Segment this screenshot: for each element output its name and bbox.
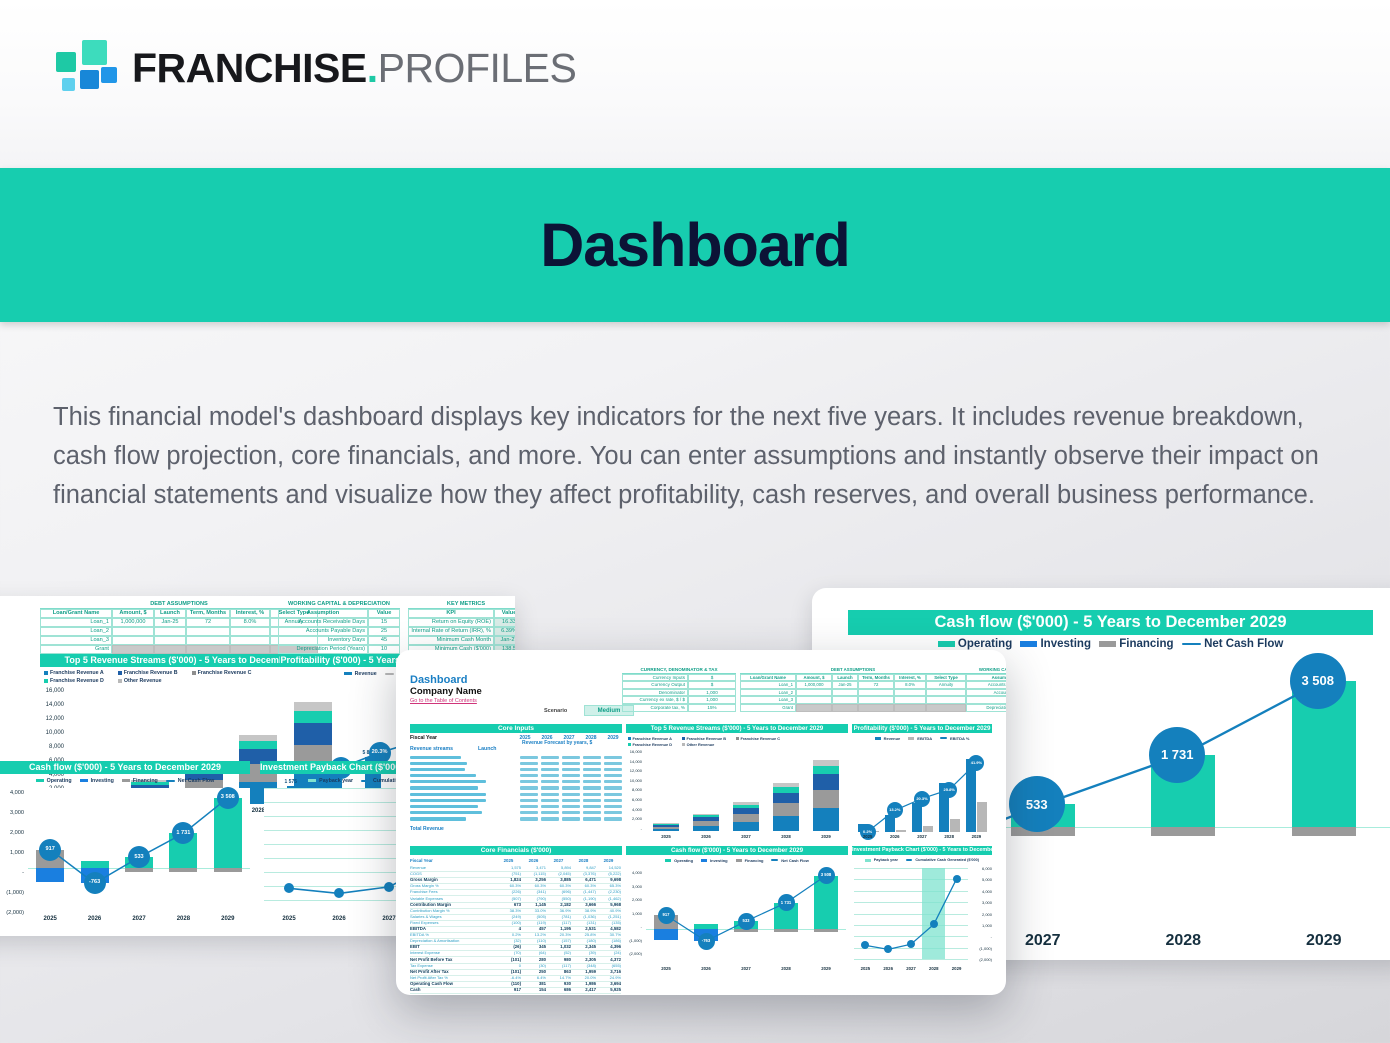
- left-payback-legend-label: Payback year: [319, 778, 353, 784]
- center-debt-table-cell: Loan_1: [740, 681, 796, 689]
- squares-mosaic-icon: [56, 40, 114, 96]
- center-cashflow-legend-swatch: [736, 859, 742, 862]
- left-km-table-cell: 16.33: [494, 618, 515, 627]
- center-debt-table-cell: [894, 689, 926, 697]
- center-panel-title: Dashboard: [410, 674, 467, 686]
- left-wc-table-header-row: AssumptionValue: [278, 609, 400, 618]
- left-debt-table-cell: [154, 645, 186, 654]
- center-revenue-ytick: 14,000: [622, 759, 642, 764]
- left-revenue-legend-label: Other Revenue: [124, 678, 162, 684]
- left-debt-table-row[interactable]: Loan_3: [40, 636, 318, 645]
- center-cashflow-bubble: 533: [738, 913, 755, 930]
- center-wc-table-title: WORKING CAPITAL & DEPRECIATION: [966, 666, 1006, 674]
- center-payback-ytick: -: [970, 934, 992, 939]
- center-debt-table-cell: Jan-25: [832, 681, 858, 689]
- left-revenue-legend-swatch: [44, 679, 48, 683]
- center-revenue-bar-segment: [693, 817, 719, 821]
- center-revenue-bar-segment: [813, 760, 839, 766]
- page-title: Dashboard: [540, 210, 850, 280]
- hero-chart-legend-label: Financing: [1119, 638, 1173, 650]
- center-revenue-bar-segment: [693, 814, 719, 815]
- center-wc-table-cell: Inventory Days: [966, 696, 1006, 704]
- center-debt-table-cell: Loan_2: [740, 689, 796, 697]
- left-wc-table-cell: Accounts Receivable Days: [278, 618, 368, 627]
- center-debt-table-cell: [832, 696, 858, 704]
- left-cashflow-xlab: 2029: [206, 916, 250, 922]
- center-cf-header-cell: Fiscal Year: [410, 857, 496, 864]
- left-debt-table-cell: 1,000,000: [112, 618, 154, 627]
- left-debt-table-cell: [230, 627, 270, 636]
- left-revenue-legend-swatch: [44, 671, 48, 675]
- center-currency-table-cell: Currency ex rate, $ / $: [622, 696, 688, 704]
- center-cashflow-ytick: (1,000): [622, 938, 642, 943]
- center-profit-legend-item: EBITDA: [908, 736, 932, 741]
- left-debt-table-row[interactable]: Loan_2: [40, 627, 318, 636]
- center-wc-table-row[interactable]: Inventory Days45: [966, 696, 1006, 704]
- center-currency-table-row[interactable]: Corporate tax, %15%: [622, 704, 736, 712]
- center-revenue-bar-segment: [653, 827, 679, 829]
- center-panel-toc-link[interactable]: Go to the Table of Contents: [410, 698, 477, 704]
- center-revenue-xlab: 2025: [646, 834, 686, 839]
- left-profit-legend-swatch: [385, 673, 394, 675]
- center-cashflow-ytick: (2,000): [622, 951, 642, 956]
- left-cashflow-legend-swatch: [80, 779, 88, 782]
- left-cashflow-ytick: (2,000): [0, 910, 24, 916]
- left-wc-table-cell: Depreciation Period (Years): [278, 645, 368, 654]
- center-wc-table-cell: Depreciation Period (Years): [966, 704, 1006, 712]
- center-debt-table-header-cell: Term, Months: [858, 674, 894, 682]
- left-debt-table-header-cell: Amount, $: [112, 609, 154, 618]
- left-wc-table-header-cell: Assumption: [278, 609, 368, 618]
- left-debt-table-cell: Grant: [40, 645, 112, 654]
- left-wc-table-cell: 45: [368, 636, 400, 645]
- center-currency-table-cell: Currency Output: [622, 681, 688, 689]
- center-revenue-bar-segment: [773, 803, 799, 815]
- center-cashflow-legend-label: Investing: [710, 858, 728, 863]
- center-revenue-ytick: 6,000: [622, 797, 642, 802]
- center-cf-cell: 686: [546, 987, 571, 993]
- left-debt-table-row[interactable]: Grant: [40, 645, 318, 654]
- center-debt-table-row[interactable]: Loan_3: [740, 696, 966, 704]
- center-profit-legend-label: EBITDA: [917, 736, 932, 741]
- left-km-table-header-cell: KPI: [408, 609, 494, 618]
- hero-x-axis-label: 2029: [1254, 932, 1390, 950]
- left-wc-table-cell: 15: [368, 618, 400, 627]
- center-debt-table-cell: [858, 696, 894, 704]
- center-debt-table-row[interactable]: Loan_11,000,000Jan-25728.0%Annuity: [740, 681, 966, 689]
- center-cashflow-xlab: 2029: [806, 966, 846, 971]
- left-cashflow-bubble: -763: [84, 872, 106, 894]
- left-km-table-row[interactable]: Minimum Cash MonthJan-27: [408, 636, 515, 645]
- left-wc-table-row[interactable]: Inventory Days45: [278, 636, 400, 645]
- left-km-table-row[interactable]: Return on Equity (ROE)16.33: [408, 618, 515, 627]
- center-cf-cell: 2,417: [571, 987, 596, 993]
- left-km-table-cell: Return on Equity (ROE): [408, 618, 494, 627]
- center-debt-table-cell: [832, 689, 858, 697]
- center-profit-legend-swatch: [940, 737, 947, 739]
- center-payback-legend: Payback yearCumulative Cash Generated ($…: [852, 857, 992, 863]
- center-currency-table-cell: Currency Inputs: [622, 674, 688, 682]
- center-cashflow-legend-swatch: [665, 859, 671, 862]
- center-revenue-legend-item: Franchise Revenue C: [736, 736, 780, 741]
- center-cashflow-legend-label: Operating: [674, 858, 693, 863]
- left-revenue-legend-item: Franchise Revenue B: [118, 670, 178, 676]
- center-debt-table-cell: [796, 689, 832, 697]
- left-cashflow-legend-label: Financing: [133, 778, 158, 784]
- left-wc-table-cell: 25: [368, 627, 400, 636]
- center-revenue-bar-segment: [733, 808, 759, 814]
- center-profit-legend-item: Revenue: [875, 736, 901, 741]
- center-debt-table-cell: Grant: [740, 704, 796, 712]
- left-km-table-title: KEY METRICS: [408, 600, 515, 609]
- center-revenue-legend-item: Franchise Revenue D: [628, 742, 672, 747]
- center-profit-xlab: 2029: [963, 834, 990, 839]
- center-revenue-bar-segment: [733, 822, 759, 831]
- center-profit-legend-item: EBITDA %: [940, 736, 969, 741]
- center-revenue-bar-segment: [813, 790, 839, 808]
- left-cashflow-legend-label: Net Cash Flow: [178, 778, 215, 784]
- center-payback-bar: Investment Payback Chart ($'000) - 5 Yea…: [852, 846, 992, 855]
- center-revenue-ytick: 16,000: [622, 749, 642, 754]
- center-revenue-bar-segment: [733, 802, 759, 804]
- left-debt-table-cell: [186, 645, 230, 654]
- left-cashflow-bubble: 3 508: [217, 787, 239, 809]
- left-revenue-ytick: 16,000: [36, 688, 64, 694]
- center-payback-ytick: 2,000: [970, 912, 992, 917]
- hero-chart-legend-label: Investing: [1040, 638, 1090, 650]
- center-launch-label: Launch: [478, 746, 496, 752]
- center-debt-table-cell: 1,000,000: [796, 681, 832, 689]
- center-cashflow-legend-item: Net Cash Flow: [771, 858, 808, 863]
- center-debt-table-title: DEBT ASSUMPTIONS: [740, 666, 966, 674]
- center-total-revenue-label: Total Revenue: [410, 826, 444, 832]
- left-cashflow-legend-item: Financing: [122, 778, 158, 784]
- left-debt-table-cell: [154, 627, 186, 636]
- center-debt-table-cell: [858, 689, 894, 697]
- left-cashflow-ytick: 1,000: [0, 850, 24, 856]
- left-revenue-bar-segment: [239, 735, 277, 741]
- center-payback-point: [953, 875, 961, 883]
- center-payback-legend-swatch: [865, 859, 871, 862]
- center-revenue-bar-segment: [773, 787, 799, 793]
- left-payback-legend-swatch: [308, 779, 316, 782]
- center-debt-table-cell: Annuity: [926, 681, 966, 689]
- left-cashflow-ytick: 2,000: [0, 830, 24, 836]
- hero-chart-legend-item: Investing: [1020, 638, 1091, 650]
- center-cf-cell: Cash: [410, 987, 496, 993]
- left-cashflow-legend-item: Net Cash Flow: [166, 778, 215, 784]
- left-debt-table-cell: Loan_3: [40, 636, 112, 645]
- center-cf-header-cell: 2029: [596, 857, 621, 864]
- center-profit-xlab: 2026: [881, 834, 908, 839]
- left-wc-table-cell: Accounts Payable Days: [278, 627, 368, 636]
- center-cashflow-bubble: 917: [658, 907, 675, 924]
- center-revenue-bar-segment: [693, 826, 719, 831]
- center-revenue-legend-swatch: [736, 737, 739, 740]
- center-cashflow-xlab: 2025: [646, 966, 686, 971]
- center-revenue-ytick: 2,000: [622, 816, 642, 821]
- center-payback-ytick: 5,000: [970, 877, 992, 882]
- center-profit-xlab: 2028: [936, 834, 963, 839]
- center-wc-table-header-cell: Assumption: [966, 674, 1006, 682]
- brand-name-dot: .: [367, 45, 378, 91]
- center-revenue-xlab: 2029: [806, 834, 846, 839]
- center-revenue-legend-label: Franchise Revenue C: [741, 736, 781, 741]
- left-profit-legend-item: Revenue: [344, 671, 377, 677]
- center-revenue-bar-segment: [733, 805, 759, 808]
- center-debt-table-cell: [926, 696, 966, 704]
- center-payback-line: [854, 868, 968, 963]
- center-profit-bubble: 20.3%: [914, 791, 930, 807]
- hero-chart-legend-label: Net Cash Flow: [1204, 638, 1283, 650]
- left-cashflow-plot: 917-7635331 7313 508: [28, 788, 250, 913]
- center-revenue-bar-segment: [693, 821, 719, 825]
- center-currency-table-row[interactable]: Currency Inputs$: [622, 674, 736, 682]
- left-revenue-ytick: 12,000: [36, 716, 64, 722]
- center-cashflow-ytick: 1,000: [622, 911, 642, 916]
- left-revenue-legend-swatch: [192, 671, 196, 675]
- left-cashflow-title: Cash flow ($'000) - 5 Years to December …: [0, 761, 250, 774]
- left-wc-table-row[interactable]: Accounts Payable Days25: [278, 627, 400, 636]
- left-revenue-ytick: 14,000: [36, 702, 64, 708]
- center-cashflow-ytick: 4,000: [622, 870, 642, 875]
- center-payback-ytick: 3,000: [970, 900, 992, 905]
- center-payback-legend-item: Payback year: [865, 858, 898, 862]
- center-revenue-legend-swatch: [628, 737, 631, 740]
- center-revenue-legend-swatch: [628, 743, 631, 746]
- center-panel-scenario-label: Scenario: [544, 708, 567, 714]
- center-wc-table-header-row: AssumptionValue: [966, 674, 1006, 682]
- center-profit-xlab: 2025: [854, 834, 881, 839]
- center-cf-header-cell: 2026: [521, 857, 546, 864]
- center-cashflow-legend-label: Net Cash Flow: [781, 858, 809, 863]
- center-revenue-xlab: 2028: [766, 834, 806, 839]
- center-debt-table-cell: Loan_3: [740, 696, 796, 704]
- left-km-table-cell: Jan-27: [494, 636, 515, 645]
- center-cashflow-xlab: 2027: [726, 966, 766, 971]
- left-revenue-legend-item: Other Revenue: [118, 678, 162, 684]
- center-debt-table-header-cell: Interest, %: [894, 674, 926, 682]
- left-wc-table-header-cell: Value: [368, 609, 400, 618]
- center-cf-row[interactable]: Cash9171546862,4175,925: [410, 987, 621, 994]
- center-currency-table: CURRENCY, DENOMINATOR & TAXCurrency Inpu…: [622, 666, 736, 712]
- left-revenue-legend-swatch: [118, 671, 122, 675]
- page-description: This financial model's dashboard display…: [53, 398, 1343, 515]
- center-payback-ytick: 6,000: [970, 866, 992, 871]
- center-debt-table-cell: [894, 696, 926, 704]
- center-revenue-bar-segment: [653, 825, 679, 827]
- center-cashflow-ytick: 3,000: [622, 884, 642, 889]
- center-revenue-bar-segment: [813, 774, 839, 790]
- center-cashflow-legend-item: Financing: [736, 858, 764, 863]
- center-core-inputs-year: 2029: [602, 735, 624, 741]
- left-cashflow-legend-swatch: [36, 779, 44, 782]
- left-cashflow-legend-item: Operating: [36, 778, 72, 784]
- center-core-financials-bar: Core Financials ($'000): [410, 846, 622, 855]
- left-revenue-bar-segment: [239, 741, 277, 749]
- left-wc-table: WORKING CAPITAL & DEPRECIATIONAssumption…: [278, 600, 400, 654]
- hero-data-label-bubble: 1 731: [1149, 727, 1205, 783]
- left-wc-table-row[interactable]: Depreciation Period (Years)10: [278, 645, 400, 654]
- center-cf-cell: 917: [496, 987, 521, 993]
- center-profit-bubble: 13.2%: [887, 802, 903, 818]
- center-profit-xlab: 2027: [908, 834, 935, 839]
- left-cashflow-bubble: 917: [39, 839, 61, 861]
- hero-chart-legend-item: Financing: [1099, 638, 1174, 650]
- center-cashflow-xlab: 2026: [686, 966, 726, 971]
- center-currency-table-cell: $: [688, 674, 736, 682]
- center-panel-company: Company Name: [410, 686, 482, 697]
- center-payback-legend-swatch: [906, 859, 912, 861]
- center-revenue-bar: Top 5 Revenue Streams ($'000) - 5 Years …: [626, 724, 848, 733]
- center-revenue-bar-segment: [653, 824, 679, 825]
- left-revenue-ytick: 8,000: [36, 744, 64, 750]
- center-revenue-xlab: 2027: [726, 834, 766, 839]
- center-revenue-bar-segment: [813, 808, 839, 831]
- center-debt-table-row[interactable]: Loan_2: [740, 689, 966, 697]
- center-revenue-ytick: 12,000: [622, 768, 642, 773]
- center-debt-table-cell: [796, 704, 832, 712]
- left-revenue-legend-label: Franchise Revenue A: [50, 670, 104, 676]
- left-profit-legend-swatch: [344, 672, 352, 675]
- left-debt-table-row[interactable]: Loan_11,000,000Jan-25728.0%Annuity: [40, 618, 318, 627]
- center-profit-bubble: 25.8%: [941, 782, 957, 798]
- center-debt-table: DEBT ASSUMPTIONSLoan/Grant NameAmount, $…: [740, 666, 966, 712]
- left-km-table-row[interactable]: Internal Rate of Return (IRR), %6.39%: [408, 627, 515, 636]
- center-core-inputs-bar: Core Inputs: [410, 724, 622, 733]
- left-cashflow-ytick: -: [0, 870, 24, 876]
- hero-chart-legend-swatch: [1099, 641, 1116, 647]
- center-revenue-legend-label: Franchise Revenue D: [633, 742, 673, 747]
- center-revenue-bar-segment: [773, 816, 799, 831]
- brand-name-bold: FRANCHISE: [132, 45, 367, 91]
- left-debt-table-cell: 72: [186, 618, 230, 627]
- left-debt-table-cell: [112, 645, 154, 654]
- center-cashflow-plot: 917-7635331 7313 508: [646, 868, 846, 963]
- left-debt-table-header-cell: Loan/Grant Name: [40, 609, 112, 618]
- center-payback-legend-item: Cumulative Cash Generated ($'000): [906, 858, 979, 862]
- center-fiscal-year-label: Fiscal Year: [410, 735, 437, 741]
- hero-chart-legend-swatch: [938, 641, 955, 647]
- center-currency-table-cell: 15%: [688, 704, 736, 712]
- center-cf-header-cell: 2027: [546, 857, 571, 864]
- center-core-inputs-rows: [410, 754, 622, 822]
- center-profit-bar: Profitability ($'000) - 5 Years to Decem…: [852, 724, 992, 733]
- center-revenue-ytick: 4,000: [622, 807, 642, 812]
- center-payback-ytick: (2,000): [970, 957, 992, 962]
- center-debt-table-cell: [894, 704, 926, 712]
- center-wc-table: WORKING CAPITAL & DEPRECIATIONAssumption…: [966, 666, 1006, 712]
- center-currency-table-row[interactable]: Currency ex rate, $ / $1,000: [622, 696, 736, 704]
- hero-chart-legend-label: Operating: [958, 638, 1012, 650]
- left-cashflow-ytick: 3,000: [0, 810, 24, 816]
- center-cf-header-row: Fiscal Year20252026202720282029: [410, 857, 621, 864]
- center-cashflow-xlab: 2028: [766, 966, 806, 971]
- left-debt-table-cell: Loan_2: [40, 627, 112, 636]
- left-wc-table-cell: 10: [368, 645, 400, 654]
- left-debt-table-cell: Loan_1: [40, 618, 112, 627]
- left-wc-table-cell: Inventory Days: [278, 636, 368, 645]
- left-km-table-header-cell: Value: [494, 609, 515, 618]
- center-debt-table-row[interactable]: Grant: [740, 704, 966, 712]
- center-cashflow-bar: Cash flow ($'000) - 5 Years to December …: [626, 846, 848, 855]
- center-payback-xlab: 2027: [900, 966, 923, 971]
- left-debt-table-title: DEBT ASSUMPTIONS: [40, 600, 318, 609]
- center-revenue-legend-item: Franchise Revenue B: [682, 736, 726, 741]
- left-revenue-ytick: 10,000: [36, 730, 64, 736]
- center-cf-header-cell: 2025: [496, 857, 521, 864]
- center-currency-table-cell: 1,000: [688, 696, 736, 704]
- center-revenue-legend-swatch: [682, 737, 685, 740]
- left-km-table-cell: Minimum Cash Month: [408, 636, 494, 645]
- center-debt-table-cell: 8.0%: [894, 681, 926, 689]
- hero-chart-legend-item: Operating: [938, 638, 1013, 650]
- hero-chart-legend-swatch: [1182, 643, 1202, 645]
- center-revenue-legend-label: Franchise Revenue B: [686, 736, 726, 741]
- left-profit-legend-label: Revenue: [355, 671, 377, 677]
- left-revenue-legend-label: Franchise Revenue D: [50, 678, 104, 684]
- left-debt-table-cell: [154, 636, 186, 645]
- center-revenue-bar-segment: [733, 814, 759, 821]
- center-dashboard-panel[interactable]: DashboardCompany NameGo to the Table of …: [396, 650, 1006, 995]
- center-currency-table-row[interactable]: Currency Output$: [622, 681, 736, 689]
- center-cashflow-legend-item: Operating: [665, 858, 693, 863]
- center-cashflow-legend-swatch: [701, 859, 707, 862]
- center-wc-table-cell: Accounts Payable Days: [966, 689, 1006, 697]
- left-cashflow-legend-swatch: [166, 780, 175, 782]
- center-cashflow-legend-label: Financing: [745, 858, 764, 863]
- center-payback-xlab: 2029: [945, 966, 968, 971]
- center-cf-header-cell: 2028: [571, 857, 596, 864]
- center-core-inputs-rows-line: [410, 816, 622, 822]
- left-wc-table-row[interactable]: Accounts Receivable Days15: [278, 618, 400, 627]
- center-revenue-ytick: 10,000: [622, 778, 642, 783]
- center-payback-xlab: 2026: [877, 966, 900, 971]
- left-cashflow-legend-label: Operating: [47, 778, 72, 784]
- center-revenue-legend-label: Franchise Revenue A: [633, 736, 672, 741]
- left-debt-table-cell: [112, 627, 154, 636]
- center-currency-table-row[interactable]: Denominator1,000: [622, 689, 736, 697]
- left-cashflow-legend-label: Investing: [91, 778, 114, 784]
- left-revenue-legend-label: Franchise Revenue B: [124, 670, 178, 676]
- center-payback-ytick: (1,000): [970, 946, 992, 951]
- center-cashflow-legend-item: Investing: [701, 858, 728, 863]
- center-wc-table-row[interactable]: Accounts Receivable Days15: [966, 681, 1006, 689]
- center-revenue-ytick: -: [622, 826, 642, 831]
- center-revenue-legend-item: Other Revenue: [682, 742, 714, 747]
- center-debt-table-header-cell: Amount, $: [796, 674, 832, 682]
- left-revenue-legend-item: Franchise Revenue C: [192, 670, 252, 676]
- hero-chart-title: Cash flow ($'000) - 5 Years to December …: [848, 610, 1373, 635]
- center-revenue-bar-segment: [653, 823, 679, 824]
- center-debt-table-header-row: Loan/Grant NameAmount, $LaunchTerm, Mont…: [740, 674, 966, 682]
- center-currency-table-title: CURRENCY, DENOMINATOR & TAX: [622, 666, 736, 674]
- left-cashflow-ytick: 4,000: [0, 790, 24, 796]
- center-wc-table-row[interactable]: Accounts Payable Days25: [966, 689, 1006, 697]
- center-wc-table-row[interactable]: Depreciation Period (Years)10: [966, 704, 1006, 712]
- center-cashflow-ytick: -: [622, 924, 642, 929]
- center-debt-table-cell: [858, 704, 894, 712]
- hero-data-label-bubble: 533: [1009, 776, 1065, 832]
- left-payback-legend-item: Payback year: [308, 778, 353, 784]
- center-profit-legend-swatch: [908, 737, 914, 740]
- left-cashflow-legend: OperatingInvestingFinancingNet Cash Flow: [0, 776, 250, 785]
- center-revenue-bar-segment: [653, 829, 679, 831]
- brand-logo: FRANCHISE.PROFILES: [56, 40, 576, 96]
- left-revenue-legend-item: Franchise Revenue A: [44, 670, 104, 676]
- center-cashflow-bubble: 3 508: [818, 867, 835, 884]
- center-profit-plot: 0.2%13.2%20.3%25.8%41.9%: [854, 746, 990, 832]
